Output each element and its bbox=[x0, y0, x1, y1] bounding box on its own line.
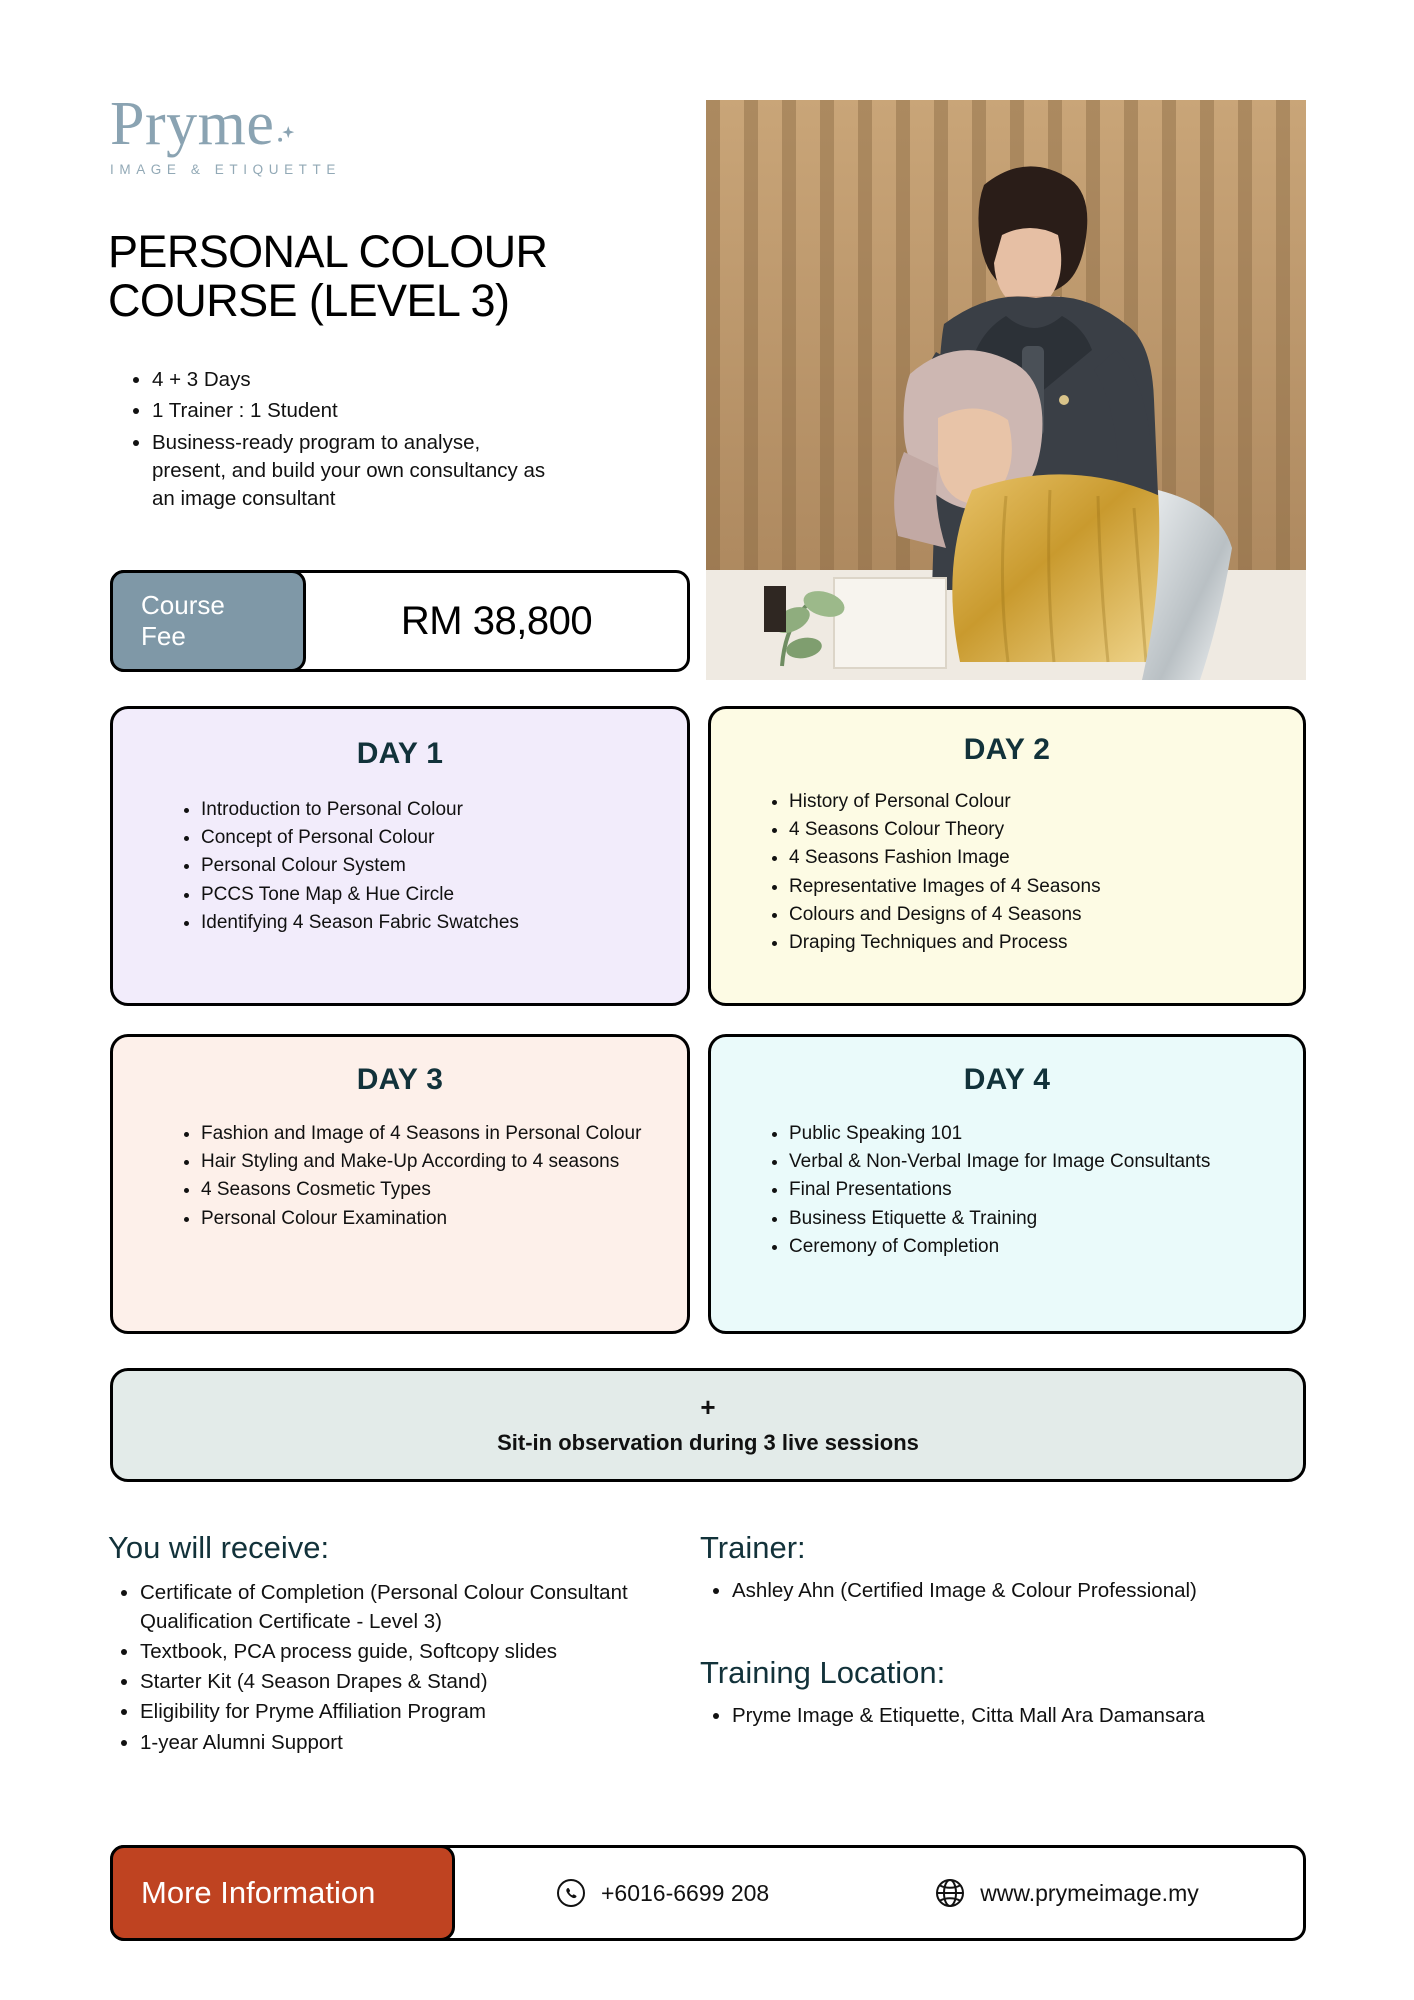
list-item: 4 Seasons Cosmetic Types bbox=[201, 1177, 663, 1203]
sparkle-icon bbox=[272, 101, 298, 127]
you-will-receive-section: You will receive: Certificate of Complet… bbox=[108, 1530, 668, 1758]
training-location-section: Training Location: Pryme Image & Etiquet… bbox=[700, 1655, 1310, 1731]
list-item: Business Etiquette & Training bbox=[789, 1206, 1279, 1232]
list-item: 4 + 3 Days bbox=[152, 366, 552, 394]
list-item: Pryme Image & Etiquette, Citta Mall Ara … bbox=[732, 1701, 1310, 1730]
list-item: Colours and Designs of 4 Seasons bbox=[789, 902, 1285, 928]
list-item: Concept of Personal Colour bbox=[201, 825, 669, 851]
list-item: Certificate of Completion (Personal Colo… bbox=[140, 1578, 668, 1636]
sit-in-observation-box: + Sit-in observation during 3 live sessi… bbox=[110, 1368, 1306, 1482]
trainer-items: Ashley Ahn (Certified Image & Colour Pro… bbox=[700, 1576, 1310, 1605]
course-fee-label-line1: Course bbox=[141, 590, 303, 621]
list-item: Ceremony of Completion bbox=[789, 1234, 1279, 1260]
day-items: Introduction to Personal ColourConcept o… bbox=[113, 797, 687, 936]
list-item: Hair Styling and Make-Up According to 4 … bbox=[201, 1149, 663, 1175]
page-title: PERSONAL COLOUR COURSE (LEVEL 3) bbox=[108, 228, 628, 325]
list-item: Draping Techniques and Process bbox=[789, 930, 1285, 956]
day-title: DAY 3 bbox=[113, 1063, 687, 1097]
course-fee-value: RM 38,800 bbox=[306, 573, 687, 669]
whatsapp-icon bbox=[555, 1877, 587, 1909]
brand-logo: Pryme IMAGE & ETIQUETTE bbox=[110, 95, 410, 177]
hero-image bbox=[706, 100, 1306, 680]
course-highlights: 4 + 3 Days1 Trainer : 1 StudentBusiness-… bbox=[122, 366, 552, 516]
trainer-section: Trainer: Ashley Ahn (Certified Image & C… bbox=[700, 1530, 1310, 1606]
list-item: Starter Kit (4 Season Drapes & Stand) bbox=[140, 1667, 668, 1696]
location-items: Pryme Image & Etiquette, Citta Mall Ara … bbox=[700, 1701, 1310, 1730]
course-fee-bar: Course Fee RM 38,800 bbox=[110, 570, 690, 672]
list-item: History of Personal Colour bbox=[789, 789, 1285, 815]
list-item: Fashion and Image of 4 Seasons in Person… bbox=[201, 1121, 663, 1147]
day-title: DAY 2 bbox=[711, 733, 1303, 767]
day-items: History of Personal Colour4 Seasons Colo… bbox=[711, 789, 1303, 956]
list-item: Identifying 4 Season Fabric Swatches bbox=[201, 910, 669, 936]
list-item: Final Presentations bbox=[789, 1177, 1279, 1203]
list-item: Personal Colour Examination bbox=[201, 1206, 663, 1232]
list-item: Textbook, PCA process guide, Softcopy sl… bbox=[140, 1637, 668, 1666]
brand-tagline: IMAGE & ETIQUETTE bbox=[110, 162, 410, 177]
brand-name-wrap: Pryme bbox=[110, 95, 274, 154]
list-item: 4 Seasons Fashion Image bbox=[789, 845, 1285, 871]
flyer-page: Pryme IMAGE & ETIQUETTE PERSONAL COLOUR … bbox=[0, 0, 1414, 2000]
list-item: Introduction to Personal Colour bbox=[201, 797, 669, 823]
globe-icon bbox=[934, 1877, 966, 1909]
list-item: 1-year Alumni Support bbox=[140, 1728, 668, 1757]
course-fee-label: Course Fee bbox=[110, 570, 306, 672]
contact-website[interactable]: www.prymeimage.my bbox=[934, 1877, 1199, 1909]
contact-phone-text: +6016-6699 208 bbox=[601, 1880, 769, 1907]
day-items: Fashion and Image of 4 Seasons in Person… bbox=[113, 1121, 687, 1232]
list-item: 1 Trainer : 1 Student bbox=[152, 397, 552, 425]
receive-items: Certificate of Completion (Personal Colo… bbox=[108, 1578, 668, 1757]
list-item: Personal Colour System bbox=[201, 853, 669, 879]
section-heading: Trainer: bbox=[700, 1530, 1310, 1566]
list-item: Ashley Ahn (Certified Image & Colour Pro… bbox=[732, 1576, 1310, 1605]
brand-name: Pryme bbox=[110, 90, 274, 158]
more-information-button[interactable]: More Information bbox=[110, 1845, 455, 1941]
day-title: DAY 4 bbox=[711, 1063, 1303, 1097]
contact-phone[interactable]: +6016-6699 208 bbox=[555, 1877, 769, 1909]
day-title: DAY 1 bbox=[113, 737, 687, 771]
day-card-4: DAY 4 Public Speaking 101Verbal & Non-Ve… bbox=[708, 1034, 1306, 1334]
section-heading: You will receive: bbox=[108, 1530, 668, 1566]
day-card-2: DAY 2 History of Personal Colour4 Season… bbox=[708, 706, 1306, 1006]
list-item: Business-ready program to analyse, prese… bbox=[152, 429, 552, 514]
list-item: Public Speaking 101 bbox=[789, 1121, 1279, 1147]
section-heading: Training Location: bbox=[700, 1655, 1310, 1691]
day-items: Public Speaking 101Verbal & Non-Verbal I… bbox=[711, 1121, 1303, 1260]
sit-in-observation-text: Sit-in observation during 3 live session… bbox=[497, 1430, 919, 1456]
course-fee-label-line2: Fee bbox=[141, 621, 303, 652]
contact-website-text: www.prymeimage.my bbox=[980, 1880, 1199, 1907]
list-item: Verbal & Non-Verbal Image for Image Cons… bbox=[789, 1149, 1279, 1175]
day-card-3: DAY 3 Fashion and Image of 4 Seasons in … bbox=[110, 1034, 690, 1334]
contact-list: +6016-6699 208 www.prymeimage.my bbox=[455, 1848, 1303, 1938]
list-item: PCCS Tone Map & Hue Circle bbox=[201, 882, 669, 908]
plus-icon: + bbox=[700, 1394, 715, 1420]
list-item: Eligibility for Pryme Affiliation Progra… bbox=[140, 1697, 668, 1726]
day-card-1: DAY 1 Introduction to Personal ColourCon… bbox=[110, 706, 690, 1006]
footer-contact-bar: More Information +6016-6699 208 bbox=[110, 1845, 1306, 1941]
list-item: Representative Images of 4 Seasons bbox=[789, 874, 1285, 900]
list-item: 4 Seasons Colour Theory bbox=[789, 817, 1285, 843]
